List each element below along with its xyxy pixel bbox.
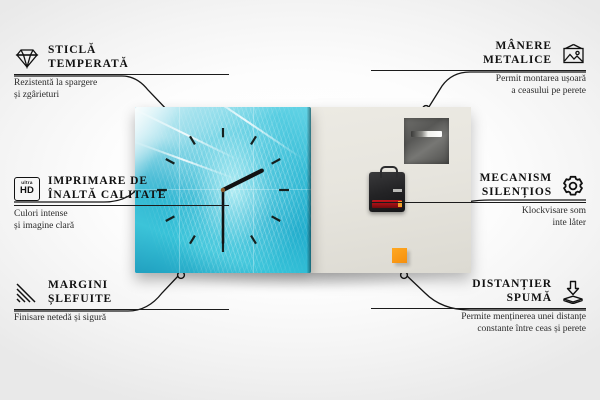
clock-tick	[272, 216, 281, 221]
clock-tick	[190, 236, 195, 244]
clock-tick	[251, 236, 256, 244]
glass-right-edge	[307, 107, 311, 273]
clock-tick	[272, 159, 281, 164]
feature-subtitle: Permite menținerea unei distanțe constan…	[371, 312, 586, 335]
product-infographic: STICLĂ TEMPERATĂ Rezistentă la spargere …	[0, 0, 600, 400]
feature-subtitle: Culori intense și imagine clară	[14, 209, 229, 232]
feature-polished-edges: MARGINI ȘLEFUITE Finisare netedă și sigu…	[14, 279, 229, 325]
feature-tempered-glass: STICLĂ TEMPERATĂ Rezistentă la spargere …	[14, 44, 229, 101]
press-down-icon	[560, 279, 586, 305]
feature-header: STICLĂ TEMPERATĂ	[14, 44, 229, 71]
feature-title: MARGINI ȘLEFUITE	[48, 279, 112, 306]
feature-divider	[14, 205, 229, 206]
feature-title: IMPRIMARE DE ÎNALTĂ CALITATE	[48, 175, 166, 202]
feature-title: DISTANȚIER SPUMĂ	[472, 278, 552, 305]
polished-edges-icon	[14, 280, 40, 306]
feature-header: ultra HD IMPRIMARE DE ÎNALTĂ CALITATE	[14, 175, 229, 202]
feature-header: MARGINI ȘLEFUITE	[14, 279, 229, 306]
feature-divider	[14, 74, 229, 75]
feature-title: STICLĂ TEMPERATĂ	[48, 44, 129, 71]
ultra-hd-icon: ultra HD	[14, 176, 40, 202]
feature-title: MECANISM SILENȚIOS	[480, 172, 552, 199]
feature-divider	[371, 202, 586, 203]
feature-subtitle: Finisare netedă și sigură	[14, 313, 229, 325]
clock-tick	[190, 136, 195, 144]
feature-high-quality-print: ultra HD IMPRIMARE DE ÎNALTĂ CALITATE Cu…	[14, 175, 229, 232]
feature-subtitle: Klockvisare som inte låter	[371, 206, 586, 229]
diamond-icon	[14, 45, 40, 71]
feature-subtitle: Rezistentă la spargere și zgârieturi	[14, 78, 229, 101]
clock-tick	[251, 136, 256, 144]
feature-header: DISTANȚIER SPUMĂ	[371, 278, 586, 305]
feature-metal-handles: MÂNERE METALICE Permit montarea ușoară a…	[371, 40, 586, 97]
gear-icon	[560, 173, 586, 199]
feature-header: MECANISM SILENȚIOS	[371, 172, 586, 199]
picture-frame-icon	[560, 41, 586, 67]
hanger-keyhole-slot	[411, 131, 442, 137]
clock-tick	[166, 159, 175, 164]
feature-divider	[371, 70, 586, 71]
feature-divider	[371, 308, 586, 309]
feature-subtitle: Permit montarea ușoară a ceasului pe per…	[371, 74, 586, 97]
feature-divider	[14, 309, 229, 310]
feature-foam-spacer: DISTANȚIER SPUMĂ Permite menținerea unei…	[371, 278, 586, 335]
feature-silent-mechanism: MECANISM SILENȚIOS Klockvisare som inte …	[371, 172, 586, 229]
metal-hanger-plate	[404, 118, 449, 164]
feature-title: MÂNERE METALICE	[483, 40, 552, 67]
feature-header: MÂNERE METALICE	[371, 40, 586, 67]
foam-spacer-square	[392, 248, 407, 263]
